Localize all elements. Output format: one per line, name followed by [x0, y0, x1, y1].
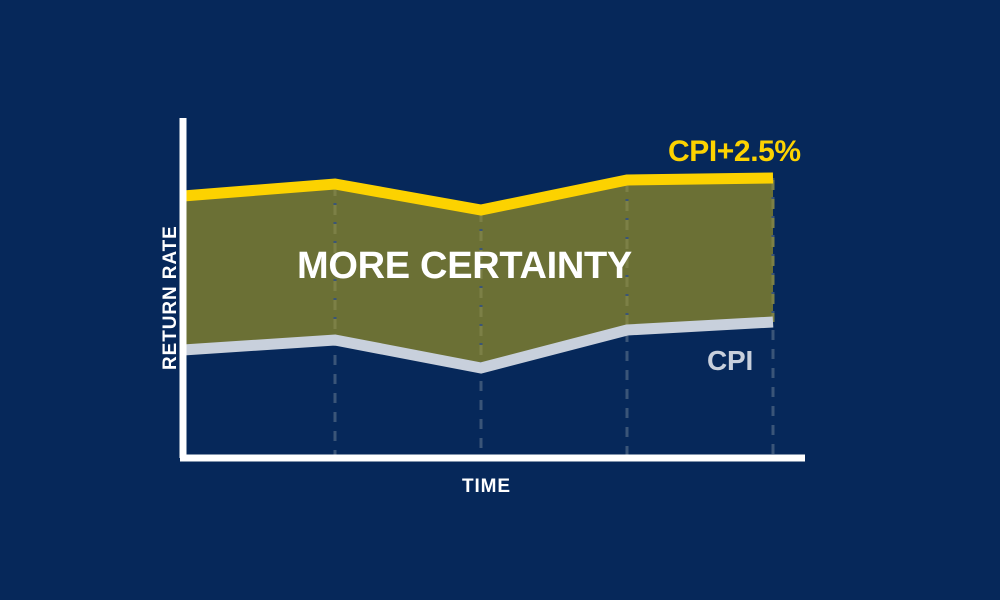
series-label-cpi: CPI [707, 345, 753, 377]
series-label-cpi-plus-2-5: CPI+2.5% [668, 135, 801, 169]
band-caption: MORE CERTAINTY [297, 245, 632, 288]
y-axis-label: RETURN RATE [160, 225, 182, 370]
x-axis-label: TIME [462, 476, 511, 498]
area-chart-canvas [0, 0, 1000, 600]
chart-infographic: RETURN RATE TIME MORE CERTAINTY CPI+2.5%… [0, 0, 1000, 600]
